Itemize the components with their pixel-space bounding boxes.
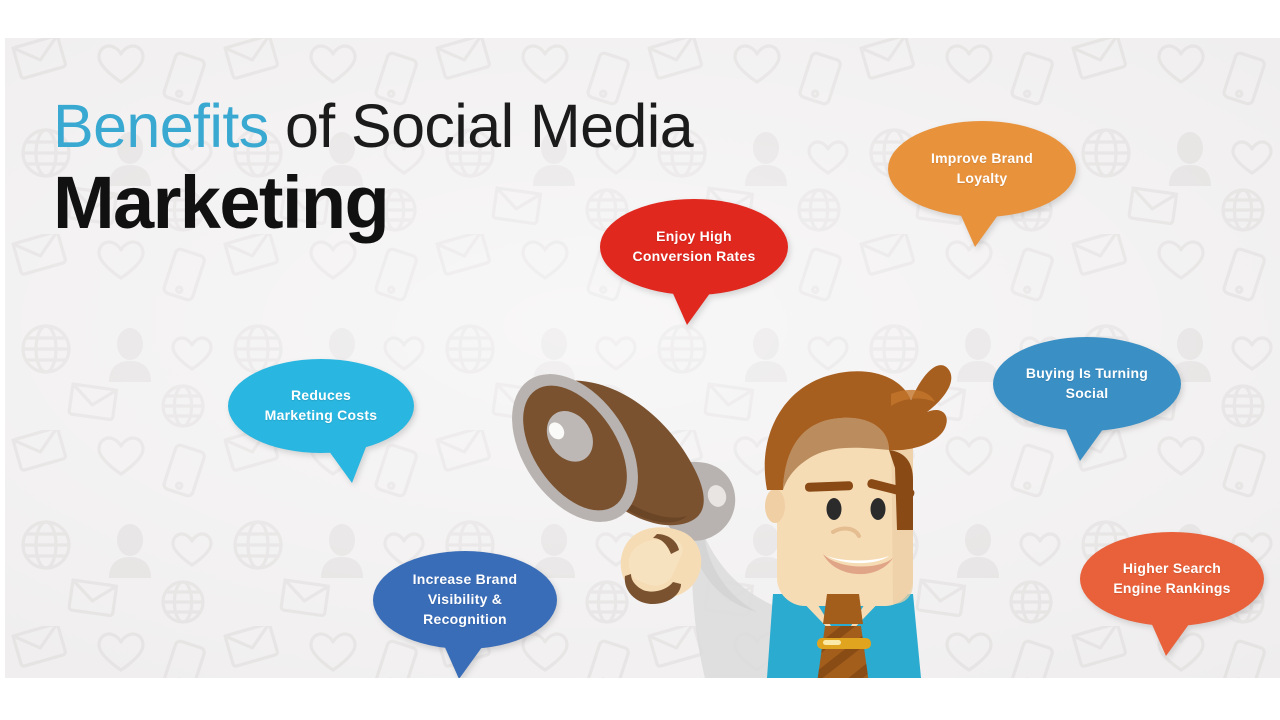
bubble-tail [326,447,366,483]
bubble-label: Increase BrandVisibility &Recognition [413,570,518,630]
bubble-tail [1064,425,1106,461]
bubble-label: ReducesMarketing Costs [265,386,378,426]
title-rest: of Social Media [269,92,693,160]
infographic-stage: Benefits of Social Media Marketing [0,0,1280,720]
bubble-tail [959,211,1001,247]
bubble-higher-search-engine-rankings[interactable]: Higher SearchEngine Rankings [1080,532,1264,626]
bubble-reduces-marketing-costs[interactable]: ReducesMarketing Costs [228,359,414,453]
title-line-one: Benefits of Social Media [53,96,693,157]
bubble-tail [671,289,713,325]
page-title: Benefits of Social Media Marketing [53,96,693,240]
title-line-two: Marketing [53,166,693,240]
bubble-label: Buying Is TurningSocial [1026,364,1148,404]
bubble-tail [1150,620,1192,656]
bubble-tail [443,643,485,678]
bubble-label: Improve BrandLoyalty [931,149,1033,189]
infographic-canvas: Benefits of Social Media Marketing [5,38,1280,678]
bubble-label: Higher SearchEngine Rankings [1113,559,1230,599]
bubble-enjoy-high-conversion-rates[interactable]: Enjoy HighConversion Rates [600,199,788,295]
letterbox-bottom [0,678,1280,720]
letterbox-top [0,0,1280,38]
bubble-buying-is-turning-social[interactable]: Buying Is TurningSocial [993,337,1181,431]
bubble-improve-brand-loyalty[interactable]: Improve BrandLoyalty [888,121,1076,217]
letterbox-left [0,0,5,720]
bubble-increase-brand-visibility-recognition[interactable]: Increase BrandVisibility &Recognition [373,551,557,649]
bubble-label: Enjoy HighConversion Rates [632,227,755,267]
title-accent-word: Benefits [53,92,269,160]
